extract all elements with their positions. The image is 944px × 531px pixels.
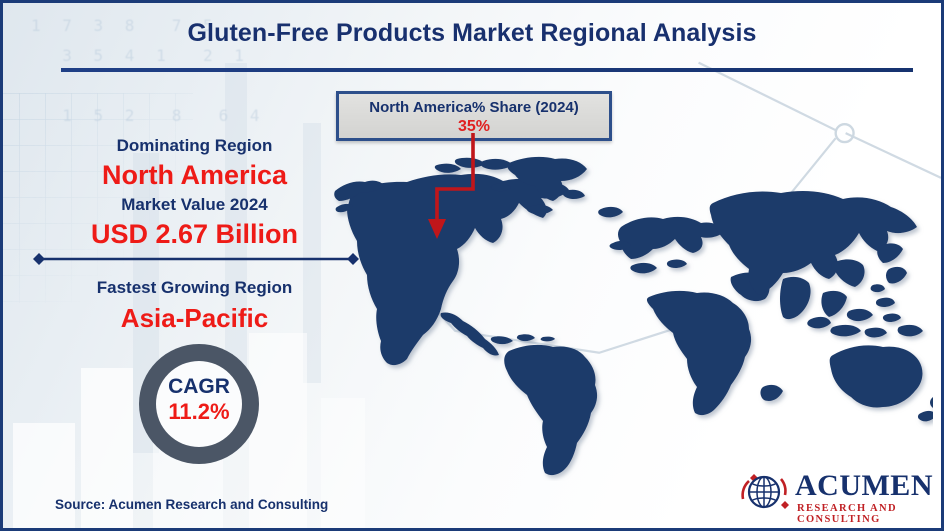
page-title: Gluten-Free Products Market Regional Ana…: [3, 19, 941, 48]
dominating-region-label: Dominating Region: [3, 136, 386, 156]
logo-tagline: RESEARCH AND CONSULTING: [797, 503, 933, 525]
fastest-growing-value: Asia-Pacific: [3, 303, 386, 334]
globe-icon: [737, 469, 795, 521]
callout-arrow: [333, 133, 513, 248]
section-divider: [31, 251, 361, 267]
donut-text-group: CAGR 11.2%: [139, 376, 259, 423]
cagr-value: 11.2%: [139, 400, 259, 423]
infographic-root: 1 7 3 8 7 5 3 5 4 1 2 1 1 5 2 8 6 4 Glut…: [0, 0, 944, 531]
logo-wordmark: ACUMEN: [795, 471, 933, 501]
acumen-logo[interactable]: ACUMEN RESEARCH AND CONSULTING: [737, 469, 933, 524]
title-underline: [61, 68, 913, 72]
callout-title: North America% Share (2024): [339, 99, 609, 116]
dominating-region-value: North America: [3, 160, 386, 191]
fastest-growing-label: Fastest Growing Region: [3, 278, 386, 298]
cagr-label: CAGR: [139, 376, 259, 398]
cagr-donut: CAGR 11.2%: [139, 344, 259, 464]
source-text: Source: Acumen Research and Consulting: [55, 497, 328, 512]
market-value-label: Market Value 2024: [3, 195, 386, 215]
market-value-amount: USD 2.67 Billion: [3, 219, 386, 250]
